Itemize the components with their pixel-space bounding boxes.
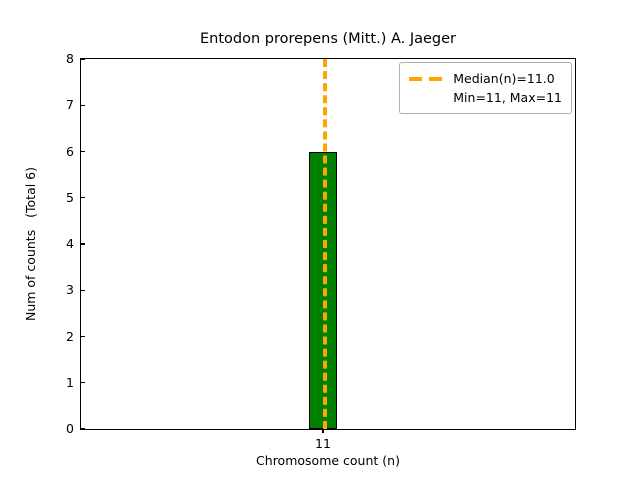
legend-entry-median: Median(n)=11.0 xyxy=(408,69,562,88)
ytick-label: 1 xyxy=(66,374,74,392)
ytick-mark xyxy=(81,336,85,337)
figure-canvas: Entodon prorepens (Mitt.) A. Jaeger 0 1 … xyxy=(0,0,640,480)
chart-title: Entodon prorepens (Mitt.) A. Jaeger xyxy=(80,30,576,48)
median-line xyxy=(323,59,327,429)
plot-area: 0 1 2 3 4 5 6 7 xyxy=(80,58,576,430)
xtick-mark xyxy=(322,429,323,433)
y-axis-label: Num of counts (Total 6) xyxy=(22,58,40,430)
ytick-mark xyxy=(81,428,85,429)
ytick-label: 6 xyxy=(66,143,74,161)
ytick-label: 2 xyxy=(66,328,74,346)
ytick-label: 8 xyxy=(66,50,74,68)
ytick-mark xyxy=(81,243,85,244)
ytick-label: 0 xyxy=(66,420,74,438)
legend-label-median: Median(n)=11.0 xyxy=(453,71,554,87)
legend-box: Median(n)=11.0 Min=11, Max=11 xyxy=(399,62,572,114)
ytick-label: 5 xyxy=(66,189,74,207)
dashed-line-icon xyxy=(408,72,444,86)
legend-label-minmax: Min=11, Max=11 xyxy=(453,90,562,106)
ytick-mark xyxy=(81,382,85,383)
ytick-mark xyxy=(81,105,85,106)
ytick-mark xyxy=(81,290,85,291)
x-axis-label: Chromosome count (n) xyxy=(80,453,576,469)
ytick-label: 4 xyxy=(66,235,74,253)
ytick-label: 7 xyxy=(66,96,74,114)
ytick-label: 3 xyxy=(66,281,74,299)
plot-inner xyxy=(81,59,575,429)
ytick-mark xyxy=(81,151,85,152)
xtick-label: 11 xyxy=(283,435,363,453)
ytick-mark xyxy=(81,58,85,59)
ytick-mark xyxy=(81,197,85,198)
legend-entry-minmax: Min=11, Max=11 xyxy=(408,88,562,107)
